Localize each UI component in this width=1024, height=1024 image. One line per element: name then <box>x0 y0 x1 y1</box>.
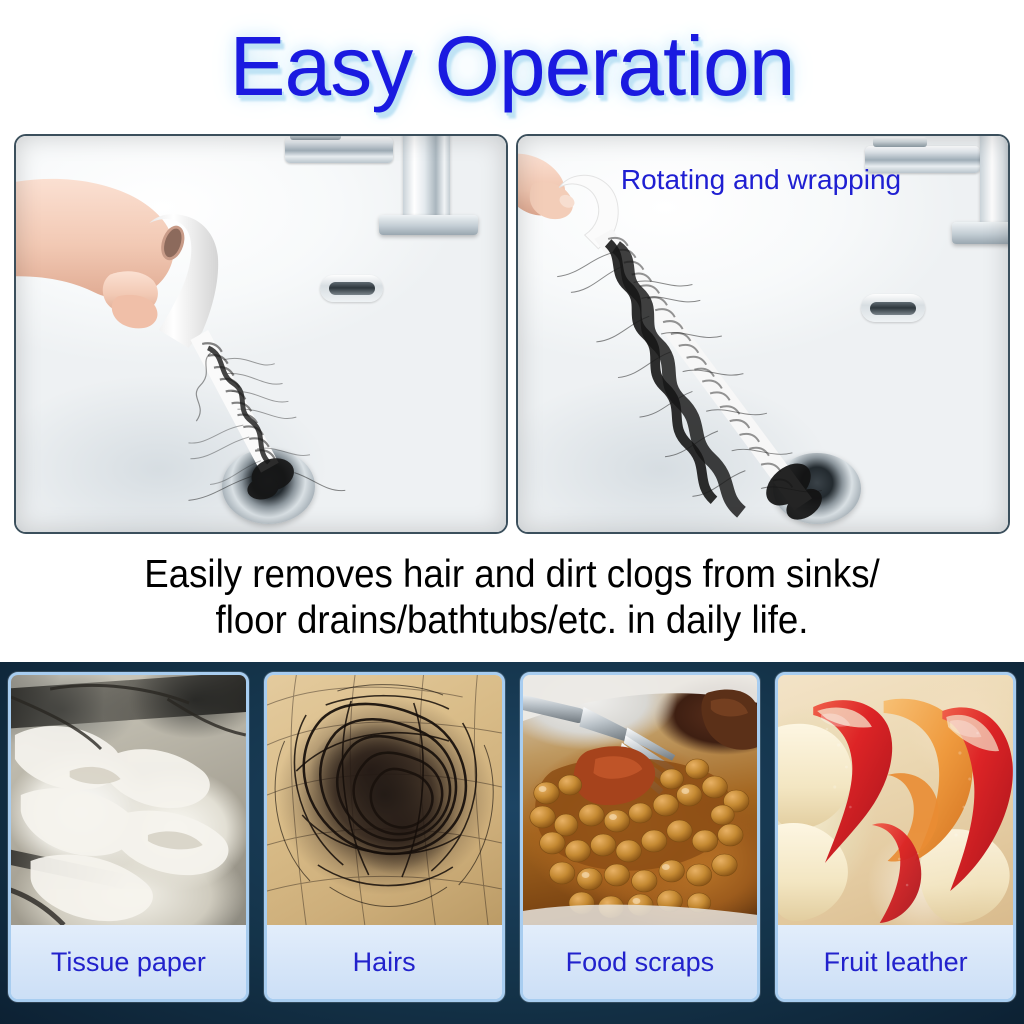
product-description: Easily removes hair and dirt clogs from … <box>31 552 994 643</box>
hand-with-tool-illustration <box>16 136 506 532</box>
card-label-tissue-paper: Tissue paper <box>11 925 246 999</box>
description-line-1: Easily removes hair and dirt clogs from … <box>31 552 994 598</box>
use-cases-card-row: Tissue paper <box>8 672 1016 1002</box>
product-infographic: Easy Operation <box>0 0 1024 1024</box>
card-label-fruit-leather: Fruit leather <box>778 925 1013 999</box>
photo-panel-row: Rotating and wrapping <box>14 134 1010 534</box>
tissue-paper-photo <box>11 675 246 925</box>
title-area: Easy Operation <box>0 18 1024 114</box>
use-case-card-food-scraps: Food scraps <box>520 672 761 1002</box>
description-line-2: floor drains/bathtubs/etc. in daily life… <box>31 598 994 644</box>
card-label-text: Hairs <box>353 947 416 978</box>
fruit-leather-photo <box>778 675 1013 925</box>
inserting-tool-photo <box>14 134 508 534</box>
card-label-food-scraps: Food scraps <box>523 925 758 999</box>
use-case-card-hairs: Hairs <box>264 672 505 1002</box>
use-case-card-fruit-leather: Fruit leather <box>775 672 1016 1002</box>
card-label-text: Tissue paper <box>51 947 206 978</box>
pulling-tool-photo: Rotating and wrapping <box>516 134 1010 534</box>
page-title: Easy Operation <box>230 24 795 108</box>
panel-caption-rotating: Rotating and wrapping <box>621 164 901 196</box>
card-label-text: Food scraps <box>566 947 715 978</box>
card-label-text: Fruit leather <box>824 947 968 978</box>
use-case-card-tissue-paper: Tissue paper <box>8 672 249 1002</box>
food-scraps-photo <box>523 675 758 925</box>
hairs-photo <box>267 675 502 925</box>
card-label-hairs: Hairs <box>267 925 502 999</box>
